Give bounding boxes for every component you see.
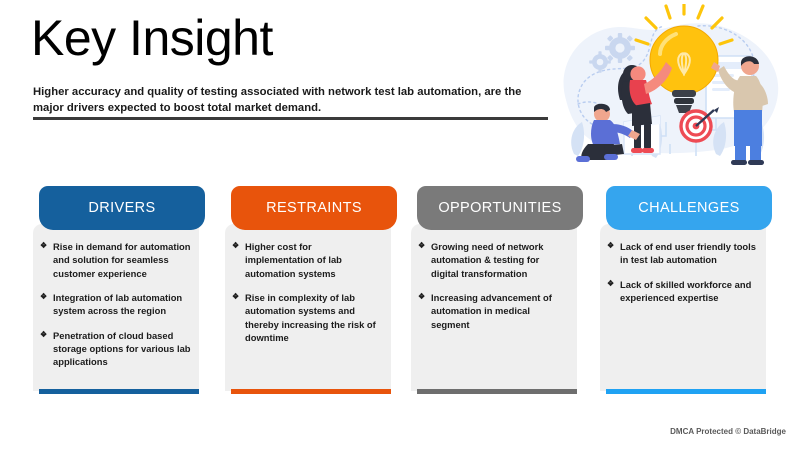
insight-cards: ❖Rise in demand for automation and solut… [0, 186, 800, 401]
card-opportunities[interactable]: ❖Growing need of network automation & te… [411, 186, 583, 398]
diamond-bullet-icon: ❖ [232, 240, 239, 251]
card-accent-bar-restraints [231, 389, 391, 394]
list-item: ❖Rise in complexity of lab automation sy… [232, 291, 383, 344]
card-header-drivers[interactable]: DRIVERS [39, 186, 205, 230]
bullet-list-restraints: ❖Higher cost for implementation of lab a… [232, 240, 383, 344]
card-body-opportunities: ❖Growing need of network automation & te… [411, 224, 577, 391]
card-body-challenges: ❖Lack of end user friendly tools in test… [600, 224, 766, 391]
diamond-bullet-icon: ❖ [418, 291, 425, 302]
card-accent-bar-drivers [39, 389, 199, 394]
diamond-bullet-icon: ❖ [40, 291, 47, 302]
card-accent-bar-opportunities [417, 389, 577, 394]
list-item: ❖Increasing advancement of automation in… [418, 291, 569, 331]
card-header-opportunities[interactable]: OPPORTUNITIES [417, 186, 583, 230]
card-header-restraints[interactable]: RESTRAINTS [231, 186, 397, 230]
list-item: ❖Rise in demand for automation and solut… [40, 240, 191, 280]
list-item: ❖Lack of end user friendly tools in test… [607, 240, 758, 267]
diamond-bullet-icon: ❖ [40, 329, 47, 340]
card-challenges[interactable]: ❖Lack of end user friendly tools in test… [600, 186, 772, 398]
bullet-list-drivers: ❖Rise in demand for automation and solut… [40, 240, 191, 369]
diamond-bullet-icon: ❖ [232, 291, 239, 302]
bullet-list-opportunities: ❖Growing need of network automation & te… [418, 240, 569, 331]
diamond-bullet-icon: ❖ [418, 240, 425, 251]
copyright-footer: DMCA Protected © DataBridge [670, 427, 786, 436]
card-header-challenges[interactable]: CHALLENGES [606, 186, 772, 230]
list-item: ❖Penetration of cloud based storage opti… [40, 329, 191, 369]
card-body-restraints: ❖Higher cost for implementation of lab a… [225, 224, 391, 391]
header-divider [33, 117, 548, 120]
diamond-bullet-icon: ❖ [40, 240, 47, 251]
list-item: ❖Lack of skilled workforce and experienc… [607, 278, 758, 305]
card-drivers[interactable]: ❖Rise in demand for automation and solut… [33, 186, 205, 398]
page-subtitle: Higher accuracy and quality of testing a… [33, 84, 538, 117]
list-item: ❖Growing need of network automation & te… [418, 240, 569, 280]
idea-teamwork-illustration [548, 4, 798, 176]
bullet-list-challenges: ❖Lack of end user friendly tools in test… [607, 240, 758, 304]
list-item: ❖Higher cost for implementation of lab a… [232, 240, 383, 280]
list-item: ❖Integration of lab automation system ac… [40, 291, 191, 318]
page-title: Key Insight [31, 12, 273, 65]
card-accent-bar-challenges [606, 389, 766, 394]
diamond-bullet-icon: ❖ [607, 240, 614, 251]
diamond-bullet-icon: ❖ [607, 278, 614, 289]
card-restraints[interactable]: ❖Higher cost for implementation of lab a… [225, 186, 397, 398]
slide: Key Insight Higher accuracy and quality … [0, 0, 800, 450]
card-body-drivers: ❖Rise in demand for automation and solut… [33, 224, 199, 391]
